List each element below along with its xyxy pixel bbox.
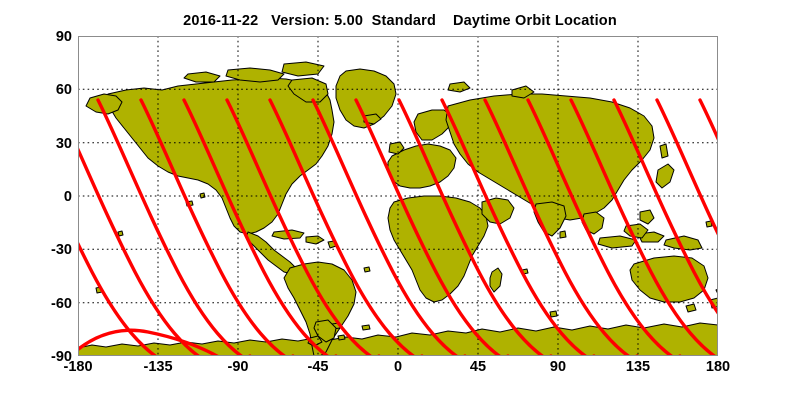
land-tasmania: [686, 304, 696, 312]
x-tick-m90: -90: [203, 360, 273, 375]
y-tick-60: 60: [32, 83, 72, 98]
map-plot-area: [78, 36, 718, 356]
y-axis-tick-labels: 90 60 30 0 -30 -60 -90: [26, 36, 72, 356]
y-tick-30: 30: [32, 137, 72, 152]
orbit-location-figure: 2016-11-22 Version: 5.00 Standard Daytim…: [0, 0, 800, 400]
land-island-sri-lanka: [560, 231, 566, 238]
y-tick-90: 90: [32, 30, 72, 45]
x-tick-135: 135: [603, 360, 673, 375]
y-tick-m60: -60: [32, 297, 72, 312]
x-tick-180: 180: [683, 360, 753, 375]
x-tick-90: 90: [523, 360, 593, 375]
world-map-svg: [78, 36, 718, 356]
x-tick-m180: -180: [43, 360, 113, 375]
x-axis-tick-labels: -180 -135 -90 -45 0 45 90 135 180: [78, 360, 718, 384]
land-island-southern-1: [338, 335, 345, 340]
y-tick-m30: -30: [32, 243, 72, 258]
land-island-atlantic-1: [364, 267, 370, 272]
x-tick-m135: -135: [123, 360, 193, 375]
x-tick-m45: -45: [283, 360, 353, 375]
x-tick-45: 45: [443, 360, 513, 375]
x-tick-0: 0: [363, 360, 433, 375]
land-island-kerguelen: [550, 311, 557, 317]
land-island-sakhalin: [660, 144, 668, 158]
land-arctic-islands-2: [282, 62, 324, 76]
y-tick-0: 0: [32, 190, 72, 205]
land-island-sth-georgia: [362, 325, 370, 330]
figure-title: 2016-11-22 Version: 5.00 Standard Daytim…: [0, 13, 800, 29]
